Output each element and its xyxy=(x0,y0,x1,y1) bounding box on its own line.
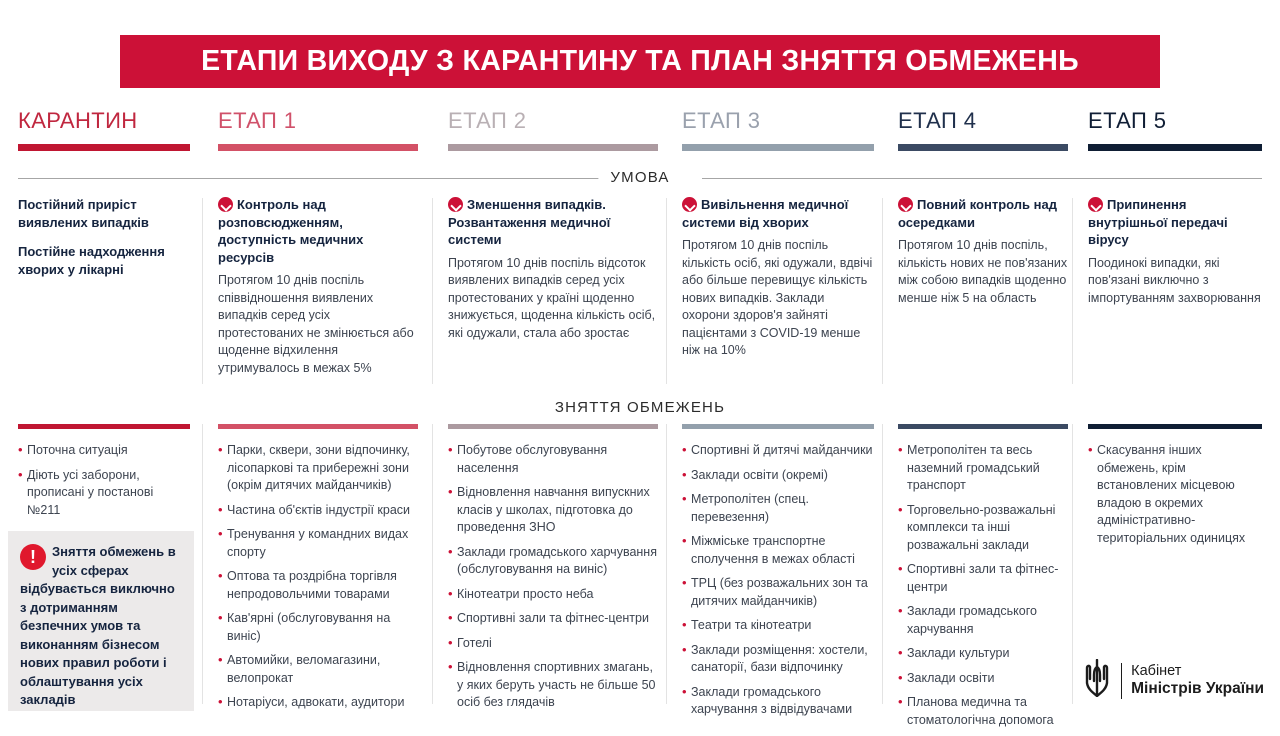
lifting-column-4: Спортивні й дитячі майданчикиЗаклади осв… xyxy=(682,424,874,726)
condition-body: Протягом 10 днів поспіль відсоток виявле… xyxy=(448,255,658,343)
condition-column-5: Повний контроль над осередкамиПротягом 1… xyxy=(898,196,1068,307)
list-item: Поточна ситуація xyxy=(18,442,190,460)
check-chevron-icon xyxy=(682,197,697,212)
check-chevron-icon xyxy=(448,197,463,212)
logo-line-2: Міністрів України xyxy=(1131,680,1264,698)
lifting-color-bar xyxy=(1088,424,1262,429)
column-separator xyxy=(432,198,433,384)
list-item: Заклади освіти (окремі) xyxy=(682,467,874,485)
stage-header-2: ЕТАП 1 xyxy=(218,108,418,151)
list-item: Заклади розміщення: хостели, санаторії, … xyxy=(682,642,874,677)
column-separator xyxy=(882,198,883,384)
stage-header-1: КАРАНТИН xyxy=(18,108,190,151)
title-banner: ЕТАПИ ВИХОДУ З КАРАНТИНУ ТА ПЛАН ЗНЯТТЯ … xyxy=(120,35,1160,88)
list-item: Нотаріуси, адвокати, аудитори xyxy=(218,694,418,712)
condition-body: Протягом 10 днів поспіль, кількість нови… xyxy=(898,237,1068,307)
condition-body: Протягом 10 днів поспіль співвідношення … xyxy=(218,272,418,377)
stage-color-bar xyxy=(448,144,658,151)
condition-body: Поодинокі випадки, які пов'язані виключн… xyxy=(1088,255,1262,308)
exclamation-icon xyxy=(20,544,46,570)
lifting-list: Спортивні й дитячі майданчикиЗаклади осв… xyxy=(682,442,874,719)
column-separator xyxy=(1072,198,1073,384)
column-separator xyxy=(202,424,203,704)
stage-title: ЕТАП 5 xyxy=(1088,108,1262,134)
stage-header-5: ЕТАП 4 xyxy=(898,108,1068,151)
lifting-list: Парки, сквери, зони відпочинку, лісопарк… xyxy=(218,442,418,712)
check-chevron-icon xyxy=(218,197,233,212)
condition-title-text: Контроль над розповсюдженням, доступніст… xyxy=(218,197,363,265)
list-item: Автомийки, веломагазини, велопрокат xyxy=(218,652,418,687)
condition-title: Припинення внутрішньої передачі вірусу xyxy=(1088,196,1262,249)
lifting-color-bar xyxy=(448,424,658,429)
list-item: Кінотеатри просто неба xyxy=(448,586,658,604)
stage-title: ЕТАП 1 xyxy=(218,108,418,134)
condition-statement: Постійне надходження хворих у лікарні xyxy=(18,243,190,279)
divider-rule-right xyxy=(702,178,1262,179)
list-item: Міжміське транспортне сполучення в межах… xyxy=(682,533,874,568)
stage-header-6: ЕТАП 5 xyxy=(1088,108,1262,151)
condition-column-4: Вивільнення медичної системи від хворихП… xyxy=(682,196,874,360)
list-item: Парки, сквери, зони відпочинку, лісопарк… xyxy=(218,442,418,495)
condition-title-text: Вивільнення медичної системи від хворих xyxy=(682,197,848,230)
list-item: Кав'ярні (обслуговування на виніс) xyxy=(218,610,418,645)
lifting-list: Метрополітен та весь наземний громадськи… xyxy=(898,442,1068,729)
list-item: Спортивні зали та фітнес-центри xyxy=(448,610,658,628)
condition-column-2: Контроль над розповсюдженням, доступніст… xyxy=(218,196,418,377)
list-item: Заклади культури xyxy=(898,645,1068,663)
list-item: Спортивні й дитячі майданчики xyxy=(682,442,874,460)
lifting-list: Побутове обслуговування населенняВідновл… xyxy=(448,442,658,712)
list-item: Заклади громадського харчування xyxy=(898,603,1068,638)
stage-color-bar xyxy=(18,144,190,151)
lifting-column-2: Парки, сквери, зони відпочинку, лісопарк… xyxy=(218,424,418,719)
list-item: Заклади громадського харчування з відвід… xyxy=(682,684,874,719)
lifting-color-bar xyxy=(898,424,1068,429)
column-separator xyxy=(1072,424,1073,704)
stage-title: КАРАНТИН xyxy=(18,108,190,134)
lifting-color-bar xyxy=(18,424,190,429)
stage-headers-row: КАРАНТИНЕТАП 1ЕТАП 2ЕТАП 3ЕТАП 4ЕТАП 5 xyxy=(0,108,1280,158)
column-separator xyxy=(666,198,667,384)
condition-title-text: Повний контроль над осередками xyxy=(898,197,1057,230)
page-title: ЕТАПИ ВИХОДУ З КАРАНТИНУ ТА ПЛАН ЗНЯТТЯ … xyxy=(201,45,1079,78)
stage-color-bar xyxy=(898,144,1068,151)
column-separator xyxy=(666,424,667,704)
list-item: Заклади громадського харчування (обслуго… xyxy=(448,544,658,579)
list-item: Театри та кінотеатри xyxy=(682,617,874,635)
list-item: Планова медична та стоматологічна допомо… xyxy=(898,694,1068,729)
lifting-section-divider: ЗНЯТТЯ ОБМЕЖЕНЬ xyxy=(18,398,1262,418)
list-item: Готелі xyxy=(448,635,658,653)
column-separator xyxy=(202,198,203,384)
list-item: Частина об'єктів індустрії краси xyxy=(218,502,418,520)
logo-divider xyxy=(1121,663,1122,699)
condition-column-3: Зменшення випадків. Розвантаження медичн… xyxy=(448,196,658,342)
stage-header-4: ЕТАП 3 xyxy=(682,108,874,151)
lifting-color-bar xyxy=(218,424,418,429)
list-item: Відновлення навчання випускних класів у … xyxy=(448,484,658,537)
list-item: Тренування у командних видах спорту xyxy=(218,526,418,561)
condition-title-text: Зменшення випадків. Розвантаження медичн… xyxy=(448,197,610,247)
government-logo: Кабінет Міністрів України xyxy=(1082,659,1264,702)
condition-column-6: Припинення внутрішньої передачі вірусуПо… xyxy=(1088,196,1262,307)
logo-text: Кабінет Міністрів України xyxy=(1131,663,1264,697)
lifting-column-1: Поточна ситуаціяДіють усі заборони, проп… xyxy=(18,424,190,526)
stage-title: ЕТАП 2 xyxy=(448,108,658,134)
lifting-color-bar xyxy=(682,424,874,429)
list-item: Побутове обслуговування населення xyxy=(448,442,658,477)
list-item: Торговельно-розважальні комплекси та інш… xyxy=(898,502,1068,555)
stage-color-bar xyxy=(682,144,874,151)
conditions-row: Постійний приріст виявлених випадківПост… xyxy=(0,196,1280,392)
condition-section-divider: УМОВА xyxy=(18,168,1262,188)
stage-title: ЕТАП 4 xyxy=(898,108,1068,134)
list-item: ТРЦ (без розважальних зон та дитячих май… xyxy=(682,575,874,610)
condition-column-1: Постійний приріст виявлених випадківПост… xyxy=(18,196,190,290)
divider-rule-left xyxy=(18,178,618,179)
condition-body: Протягом 10 днів поспіль кількість осіб,… xyxy=(682,237,874,360)
stage-color-bar xyxy=(218,144,418,151)
list-item: Спортивні зали та фітнес-центри xyxy=(898,561,1068,596)
lifting-column-6: Скасування інших обмежень, крім встановл… xyxy=(1088,424,1262,554)
column-separator xyxy=(882,424,883,704)
list-item: Відновлення спортивних змагань, у яких б… xyxy=(448,659,658,712)
condition-section-label: УМОВА xyxy=(598,168,681,188)
lifting-section-label: ЗНЯТТЯ ОБМЕЖЕНЬ xyxy=(543,398,737,418)
condition-title: Вивільнення медичної системи від хворих xyxy=(682,196,874,231)
condition-title: Зменшення випадків. Розвантаження медичн… xyxy=(448,196,658,249)
lifting-column-5: Метрополітен та весь наземний громадськи… xyxy=(898,424,1068,736)
lifting-list: Поточна ситуаціяДіють усі заборони, проп… xyxy=(18,442,190,519)
ukraine-trident-icon xyxy=(1082,659,1112,702)
warning-box: Зняття обмежень в усіх сферах відбуваєть… xyxy=(8,531,194,711)
column-separator xyxy=(432,424,433,704)
stage-title: ЕТАП 3 xyxy=(682,108,874,134)
list-item: Скасування інших обмежень, крім встановл… xyxy=(1088,442,1262,547)
condition-statement: Постійний приріст виявлених випадків xyxy=(18,196,190,232)
check-chevron-icon xyxy=(1088,197,1103,212)
list-item: Метрополітен та весь наземний громадськи… xyxy=(898,442,1068,495)
list-item: Діють усі заборони, прописані у постанов… xyxy=(18,467,190,520)
stage-color-bar xyxy=(1088,144,1262,151)
list-item: Метрополітен (спец. перевезення) xyxy=(682,491,874,526)
lifting-list: Скасування інших обмежень, крім встановл… xyxy=(1088,442,1262,547)
condition-title: Контроль над розповсюдженням, доступніст… xyxy=(218,196,418,266)
list-item: Оптова та роздрібна торгівля непродоволь… xyxy=(218,568,418,603)
condition-title: Повний контроль над осередками xyxy=(898,196,1068,231)
list-item: Заклади освіти xyxy=(898,670,1068,688)
lifting-column-3: Побутове обслуговування населенняВідновл… xyxy=(448,424,658,719)
logo-line-1: Кабінет xyxy=(1131,663,1264,680)
stage-header-3: ЕТАП 2 xyxy=(448,108,658,151)
check-chevron-icon xyxy=(898,197,913,212)
condition-title-text: Припинення внутрішньої передачі вірусу xyxy=(1088,197,1228,247)
